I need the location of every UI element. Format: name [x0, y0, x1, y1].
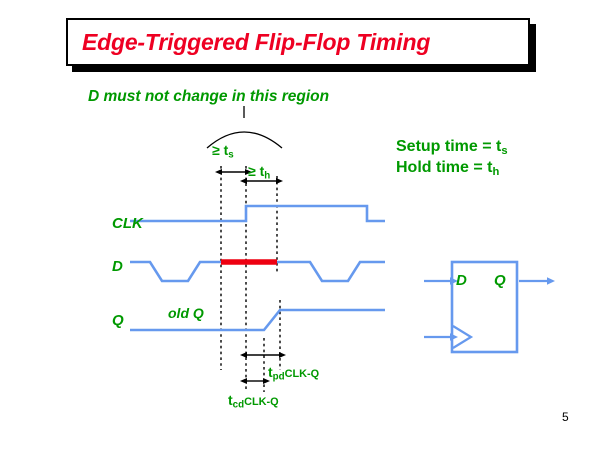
- label-setup-constraint-text: ≥ t: [212, 142, 228, 158]
- label-tcd-tail: CLK-Q: [244, 396, 279, 408]
- label-setup-constraint: ≥ ts: [212, 142, 234, 161]
- label-hold-constraint-subscript: h: [264, 171, 270, 182]
- note-d-must-not-change: D must not change in this region: [88, 88, 329, 106]
- label-tpd-clk-q: tpdCLK-Q: [268, 364, 319, 383]
- signal-label-q: Q: [112, 312, 124, 329]
- label-tpd-subscript: pd: [273, 372, 285, 383]
- legend-hold-text: Hold time = t: [396, 159, 492, 176]
- flip-flop-input-label: D: [456, 272, 467, 289]
- page-number: 5: [562, 410, 569, 424]
- label-tcd-subscript: cd: [233, 400, 244, 411]
- label-tpd-tail: CLK-Q: [285, 368, 320, 380]
- slide-canvas: Edge-Triggered Flip-Flop Timing: [0, 0, 600, 450]
- signal-label-clk: CLK: [112, 215, 143, 232]
- label-setup-constraint-subscript: s: [228, 150, 233, 161]
- waveform-d: [130, 262, 385, 281]
- flip-flop-output-label: Q: [494, 272, 506, 289]
- legend-setup-subscript: s: [501, 145, 507, 157]
- clock-edge-triangle-icon: [453, 326, 471, 348]
- label-old-q: old Q: [168, 305, 204, 321]
- legend-setup-text: Setup time = t: [396, 138, 501, 155]
- legend-hold-subscript: h: [492, 166, 499, 178]
- label-hold-constraint: ≥ th: [248, 163, 270, 182]
- flip-flop-symbol: [424, 262, 547, 352]
- signal-label-d: D: [112, 258, 123, 275]
- legend-hold-time: Hold time = th: [396, 159, 499, 178]
- label-hold-constraint-text: ≥ t: [248, 163, 264, 179]
- waveform-clk: [130, 206, 385, 221]
- label-tcd-clk-q: tcdCLK-Q: [228, 392, 279, 411]
- legend-setup-time: Setup time = ts: [396, 138, 508, 157]
- guide-lines: [221, 166, 280, 392]
